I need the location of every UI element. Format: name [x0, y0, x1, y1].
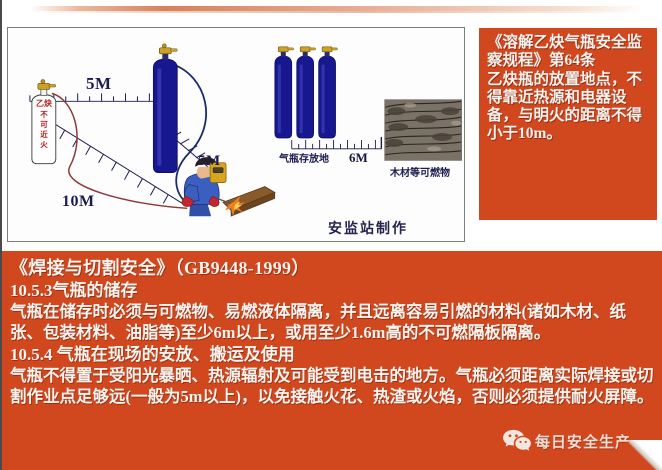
welder-figure [182, 157, 275, 216]
label-distance-6m-cylinders-wood: 6M [349, 150, 368, 166]
storage-cylinder-group [275, 47, 338, 138]
top-decorative-rule-secondary [30, 11, 644, 13]
label-distance-5m-acetylene-oxygen: 5M [86, 74, 112, 94]
oxygen-cylinder [153, 44, 177, 173]
regulation-callout-box: 《溶解乙炔气瓶安全监察规程》第64条 乙炔瓶的放置地点，不得靠近热源和电器设备，… [479, 28, 657, 220]
warning-char: 可 [38, 121, 50, 129]
clause-1-number: 10.5.3气瓶的储存 [10, 280, 656, 302]
label-cylinder-storage-area: 气瓶存放地 [279, 150, 329, 165]
clause-2-text: 气瓶不得置于受阳光暴晒、热源辐射及可能受到电击的地方。气瓶必须距离实际焊接或切割… [10, 366, 656, 408]
label-distance-10m-acetylene-welder: 10M [62, 193, 95, 211]
storage-cylinder [319, 47, 338, 138]
clause-1-text: 气瓶在储存时必须与可燃物、易燃液体隔离，并且远离容易引燃的材料(诸如木材、纸张、… [10, 302, 656, 344]
storage-cylinder [297, 47, 316, 138]
acetylene-cylinder-warning: 不 可 近 火 [38, 111, 50, 151]
standard-text-block: 《焊接与切割安全》（GB9448-1999） 10.5.3气瓶的储存 气瓶在储存… [2, 251, 662, 470]
warning-char: 近 [38, 131, 50, 139]
warning-char: 火 [38, 141, 50, 149]
clause-2-number: 10.5.4 气瓶在现场的安放、搬运及使用 [10, 344, 656, 366]
page-root: 5M 5M 10M 6M 气瓶存放地 木材等可燃物 安监站制作 乙炔 不 可 近… [0, 0, 662, 470]
regulation-body: 乙炔瓶的放置地点，不得靠近热源和电器设备，与明火的距离不得小于10m。 [487, 71, 649, 144]
wood-log-pile [384, 99, 462, 160]
storage-cylinder [275, 47, 294, 138]
label-combustible-wood: 木材等可燃物 [390, 164, 450, 179]
illustration-panel: 5M 5M 10M 6M 气瓶存放地 木材等可燃物 安监站制作 乙炔 不 可 近… [7, 27, 465, 242]
label-distance-5m-oxygen-welder: 5M [198, 153, 221, 170]
ruler-6m-horizontal [292, 137, 382, 149]
acetylene-cylinder-name: 乙炔 [33, 100, 55, 108]
label-producer-credit: 安监站制作 [328, 218, 408, 238]
standard-title: 《焊接与切割安全》（GB9448-1999） [10, 257, 656, 280]
regulation-title: 《溶解乙炔气瓶安全监察规程》第64条 [487, 34, 649, 71]
warning-char: 不 [38, 111, 50, 119]
page-curl-decoration [628, 440, 662, 470]
